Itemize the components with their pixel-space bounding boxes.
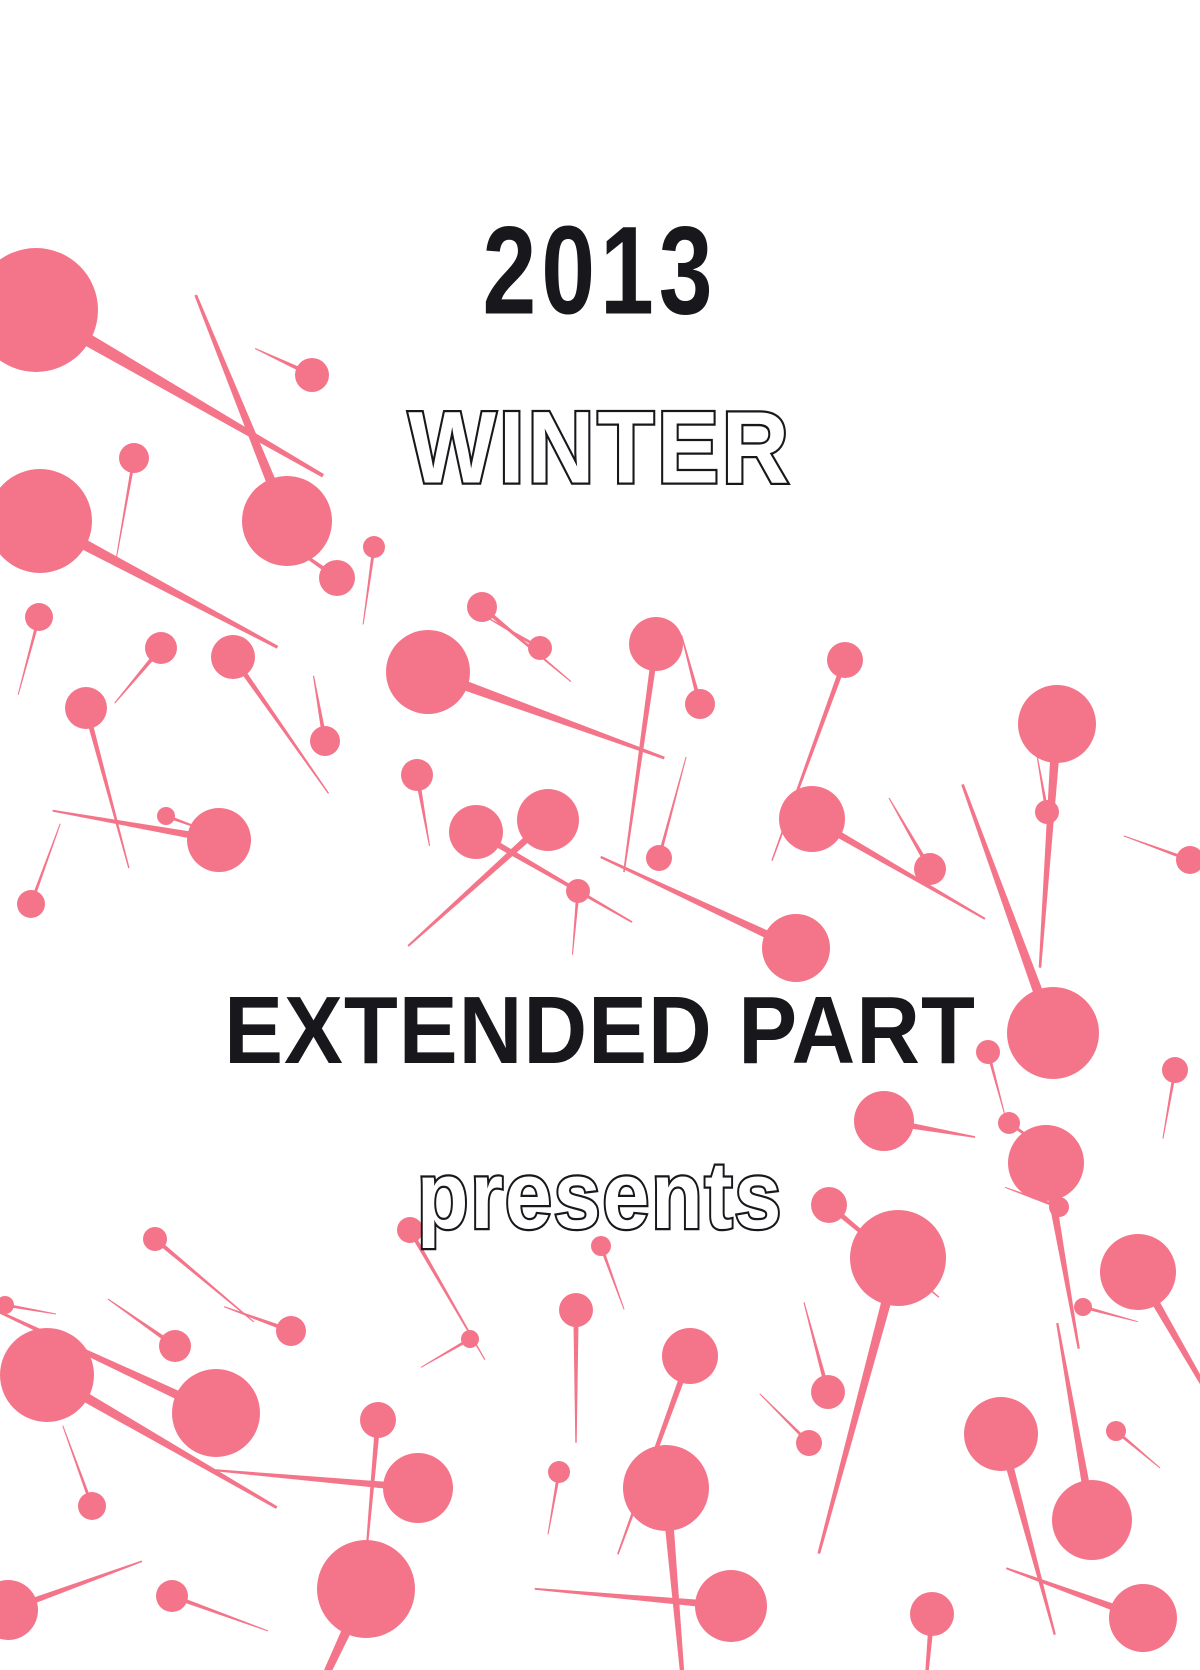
poster-year: 2013 bbox=[108, 208, 1092, 333]
poster-circle-name: EXTENDED PART bbox=[24, 983, 1176, 1079]
poster-page: 2013 WINTER EXTENDED PART presents bbox=[0, 0, 1200, 1670]
poster-text-layer: 2013 WINTER EXTENDED PART presents bbox=[0, 0, 1200, 1670]
poster-presents-label: presents bbox=[72, 1148, 1128, 1244]
poster-season: WINTER bbox=[42, 397, 1158, 499]
